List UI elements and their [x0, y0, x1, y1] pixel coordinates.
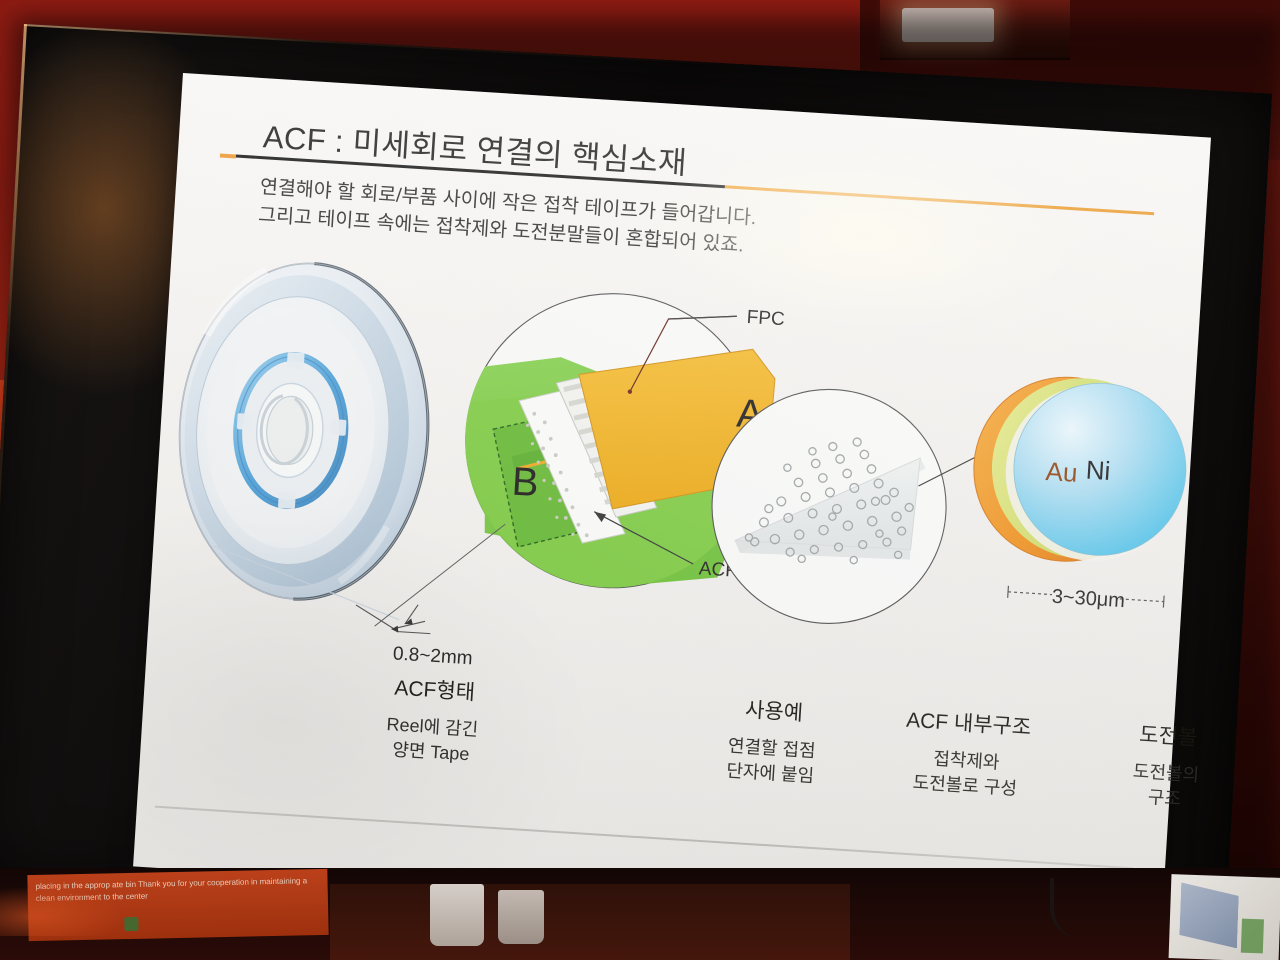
- title-rule-orange: [725, 186, 1154, 216]
- photo-scene: M ACF : 미세회로 연결의 핵심소재 연결해야 할 회로/부품 사이에 작…: [0, 0, 1280, 960]
- caption-column-2: 사용예 연결할 접점 단자에 붙임: [660, 688, 885, 792]
- foreground-lamp-glow: [0, 888, 120, 936]
- reel-thickness-callout: 0.8~2mm: [352, 601, 475, 669]
- framed-photo-image: [1179, 882, 1239, 948]
- caption-column-1: ACF형태 Reel에 감긴 양면 Tape: [320, 667, 545, 771]
- foreground-cup-1: [430, 884, 484, 946]
- structure-circle: [705, 382, 1026, 635]
- caption-column-3: ACF 내부구조 접착제와 도전볼로 구성: [854, 701, 1079, 805]
- notice-sign-logo: [124, 917, 138, 931]
- caption-4-sub: 도전볼의 구조: [1054, 754, 1277, 817]
- reel-graphic: [169, 256, 438, 621]
- ball-outer-label: Au: [1045, 456, 1079, 488]
- slide-canvas: ACF : 미세회로 연결의 핵심소재 연결해야 할 회로/부품 사이에 작은 …: [133, 73, 1211, 931]
- ball-core-label: Ni: [1085, 455, 1111, 486]
- conductive-ball-graphic: Au Ni 3~30μm: [965, 372, 1191, 616]
- fpc-callout-label: FPC: [746, 307, 785, 330]
- caption-2-sub: 연결할 접점 단자에 붙임: [660, 729, 883, 792]
- caption-column-4: 도전볼 도전볼의 구조: [1054, 713, 1279, 817]
- reel-dimension-label: 0.8~2mm: [392, 643, 473, 669]
- pcb-letter-label: B: [511, 460, 540, 506]
- tv-power-cable: [1050, 878, 1124, 938]
- ball-dimension: 3~30μm: [1007, 583, 1164, 615]
- framed-photo-accent: [1241, 919, 1264, 954]
- caption-3-sub: 접착제와 도전볼로 구성: [854, 742, 1077, 805]
- footer-rule: [155, 806, 1133, 870]
- foreground-cup-2: [498, 890, 544, 944]
- foreground-table: [330, 884, 850, 960]
- foreground-framed-photo: [1169, 874, 1280, 960]
- title-rule-accent-cap: [220, 153, 236, 158]
- slide-page: ACF : 미세회로 연결의 핵심소재 연결해야 할 회로/부품 사이에 작은 …: [133, 73, 1211, 931]
- slide-diagram: 0.8~2mm: [145, 213, 1202, 747]
- caption-1-sub: Reel에 감긴 양면 Tape: [320, 708, 543, 771]
- ball-dimension-label: 3~30μm: [1051, 586, 1125, 613]
